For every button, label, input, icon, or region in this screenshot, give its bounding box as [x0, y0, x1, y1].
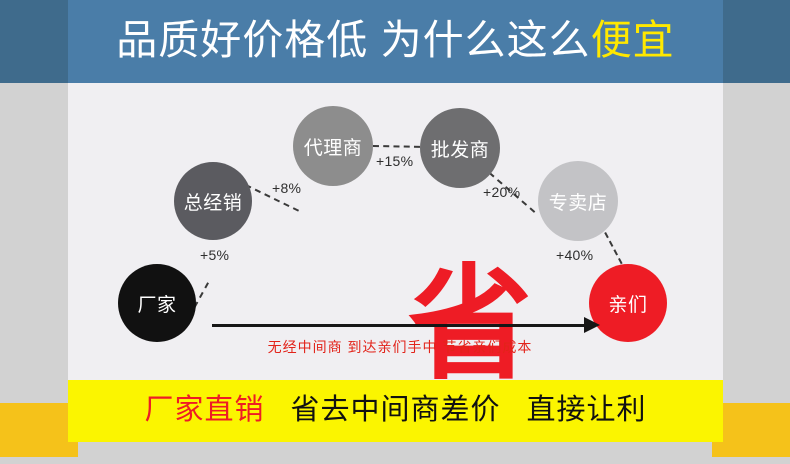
ribbon-main-band: 厂家直销省去中间商差价直接让利	[68, 380, 723, 442]
node-wholesaler-label: 批发商	[431, 135, 490, 162]
promo-poster: 品质好价格低 为什么这么便宜 省 厂家 总经销 代理商 批发商 专卖店 亲们	[0, 0, 790, 464]
footer-slogan-black-2: 直接让利	[527, 394, 647, 426]
markup-label-20: +20%	[483, 184, 520, 200]
connector-agent-wholesale	[373, 145, 420, 148]
node-factory-label: 厂家	[137, 290, 176, 317]
footer-ribbon: 厂家直销省去中间商差价直接让利	[0, 370, 790, 464]
markup-label-5: +5%	[200, 247, 229, 263]
node-retail-store[interactable]: 专卖店	[538, 161, 618, 241]
footer-slogan-black-1: 省去中间商差价	[290, 394, 500, 426]
node-general-distributor[interactable]: 总经销	[174, 162, 252, 240]
node-retail-store-label: 专卖店	[549, 188, 608, 215]
node-factory[interactable]: 厂家	[118, 264, 196, 342]
node-agent-label: 代理商	[304, 133, 363, 160]
footer-slogan-red: 厂家直销	[144, 394, 264, 426]
header-banner: 品质好价格低 为什么这么便宜	[68, 0, 723, 83]
node-customer-label: 亲们	[608, 290, 647, 317]
markup-label-8: +8%	[272, 180, 301, 196]
node-general-distributor-label: 总经销	[184, 188, 243, 215]
node-wholesaler[interactable]: 批发商	[420, 108, 500, 188]
node-customer[interactable]: 亲们	[589, 264, 667, 342]
markup-label-15: +15%	[376, 153, 413, 169]
header-title-highlight: 便宜	[591, 17, 675, 63]
direct-arrow-head	[584, 317, 600, 333]
markup-label-40: +40%	[556, 247, 593, 263]
node-agent[interactable]: 代理商	[293, 106, 373, 186]
direct-arrow-line	[212, 324, 588, 327]
ribbon-tail-left	[0, 403, 78, 457]
header-band: 品质好价格低 为什么这么便宜	[0, 0, 790, 83]
ribbon-tail-right	[712, 403, 790, 457]
direct-arrow-caption: 无经中间商 到达亲们手中 节省亲们成本	[212, 337, 588, 357]
page-title: 品质好价格低 为什么这么便宜	[116, 20, 674, 64]
header-title-plain: 品质好价格低 为什么这么	[116, 17, 590, 63]
footer-slogan: 厂家直销省去中间商差价直接让利	[144, 396, 646, 427]
